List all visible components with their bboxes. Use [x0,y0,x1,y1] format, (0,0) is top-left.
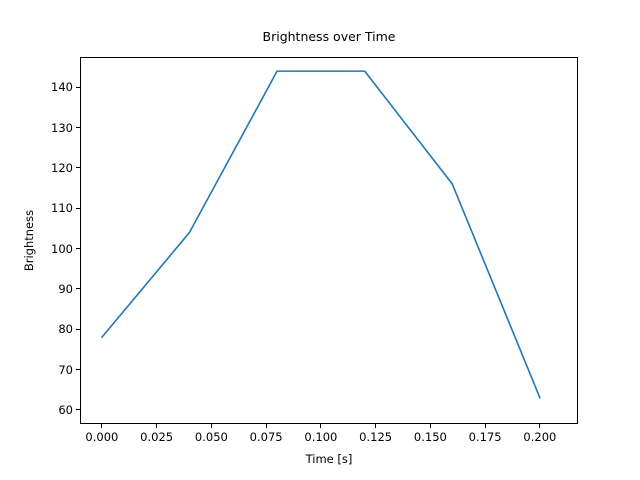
x-tick-mark [539,424,540,428]
y-tick-label: 100 [32,242,73,256]
x-tick-mark [430,424,431,428]
x-tick-mark [266,424,267,428]
y-tick-label: 140 [32,80,73,94]
x-tick-label: 0.050 [195,430,228,444]
y-tick-label: 120 [32,161,73,175]
line-series-brightness [102,71,540,398]
y-tick-label: 80 [32,322,73,336]
y-tick-mark [76,329,80,330]
y-tick-mark [76,208,80,209]
x-tick-label: 0.075 [250,430,283,444]
y-tick-label: 130 [32,121,73,135]
y-tick-mark [76,409,80,410]
plot-data-area [80,57,578,424]
y-axis-label: Brightness [22,57,38,424]
y-tick-mark [76,248,80,249]
chart-title: Brightness over Time [80,30,578,44]
x-tick-mark [101,424,102,428]
matplotlib-figure: Brightness over Time 0.0000.0250.0500.07… [0,0,640,480]
x-tick-label: 0.200 [523,430,556,444]
y-tick-mark [76,87,80,88]
x-tick-label: 0.000 [85,430,118,444]
x-tick-label: 0.150 [414,430,447,444]
x-tick-label: 0.175 [469,430,502,444]
x-tick-mark [375,424,376,428]
y-tick-mark [76,167,80,168]
x-tick-label: 0.025 [140,430,173,444]
y-tick-label: 90 [32,282,73,296]
x-axis-label: Time [s] [80,452,578,466]
x-tick-mark [156,424,157,428]
y-tick-label: 60 [32,403,73,417]
y-tick-label: 70 [32,363,73,377]
x-tick-mark [320,424,321,428]
x-tick-mark [485,424,486,428]
y-tick-mark [76,288,80,289]
x-tick-label: 0.100 [304,430,337,444]
y-tick-mark [76,127,80,128]
y-tick-mark [76,369,80,370]
x-tick-mark [211,424,212,428]
x-tick-label: 0.125 [359,430,392,444]
y-tick-label: 110 [32,201,73,215]
